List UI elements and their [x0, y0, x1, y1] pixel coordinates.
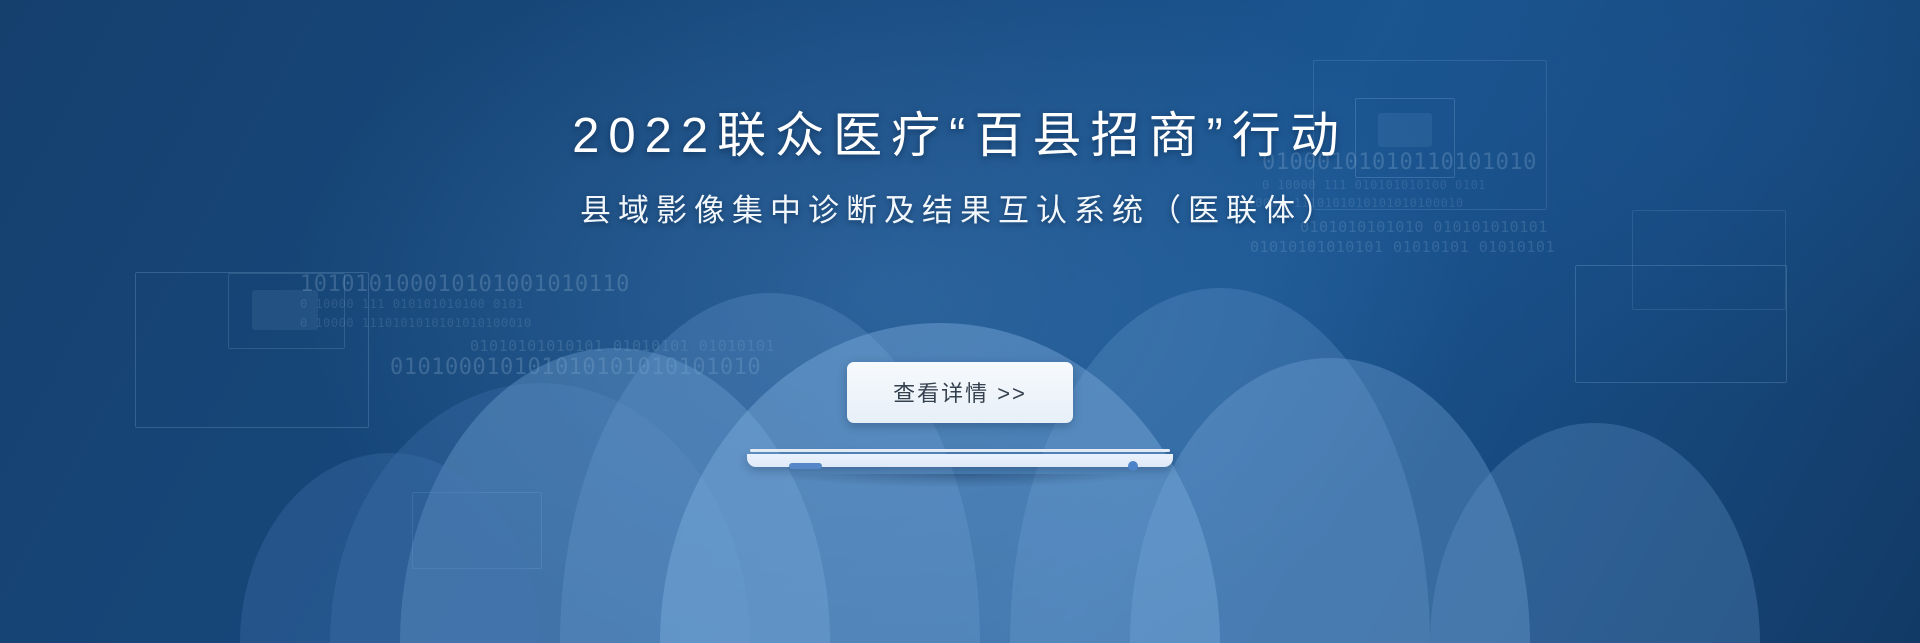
device-home-button: [1128, 461, 1138, 471]
decor-binary-5: 01000101010110101010: [1262, 150, 1537, 175]
promo-banner: 101010100010101001010110 0 10000 111 010…: [0, 0, 1920, 643]
view-details-button[interactable]: 查看详情 >>: [847, 362, 1073, 423]
cta-area: 查看详情 >>: [0, 362, 1920, 423]
device-shadow: [725, 474, 1195, 500]
device-base: [747, 454, 1173, 467]
banner-main-title: 2022联众医疗“百县招商”行动: [0, 108, 1920, 166]
device-speaker-slot: [789, 463, 822, 469]
device-screen-edge: [750, 449, 1170, 452]
decor-fill-right: [1378, 113, 1432, 147]
device-illustration: [747, 449, 1173, 475]
